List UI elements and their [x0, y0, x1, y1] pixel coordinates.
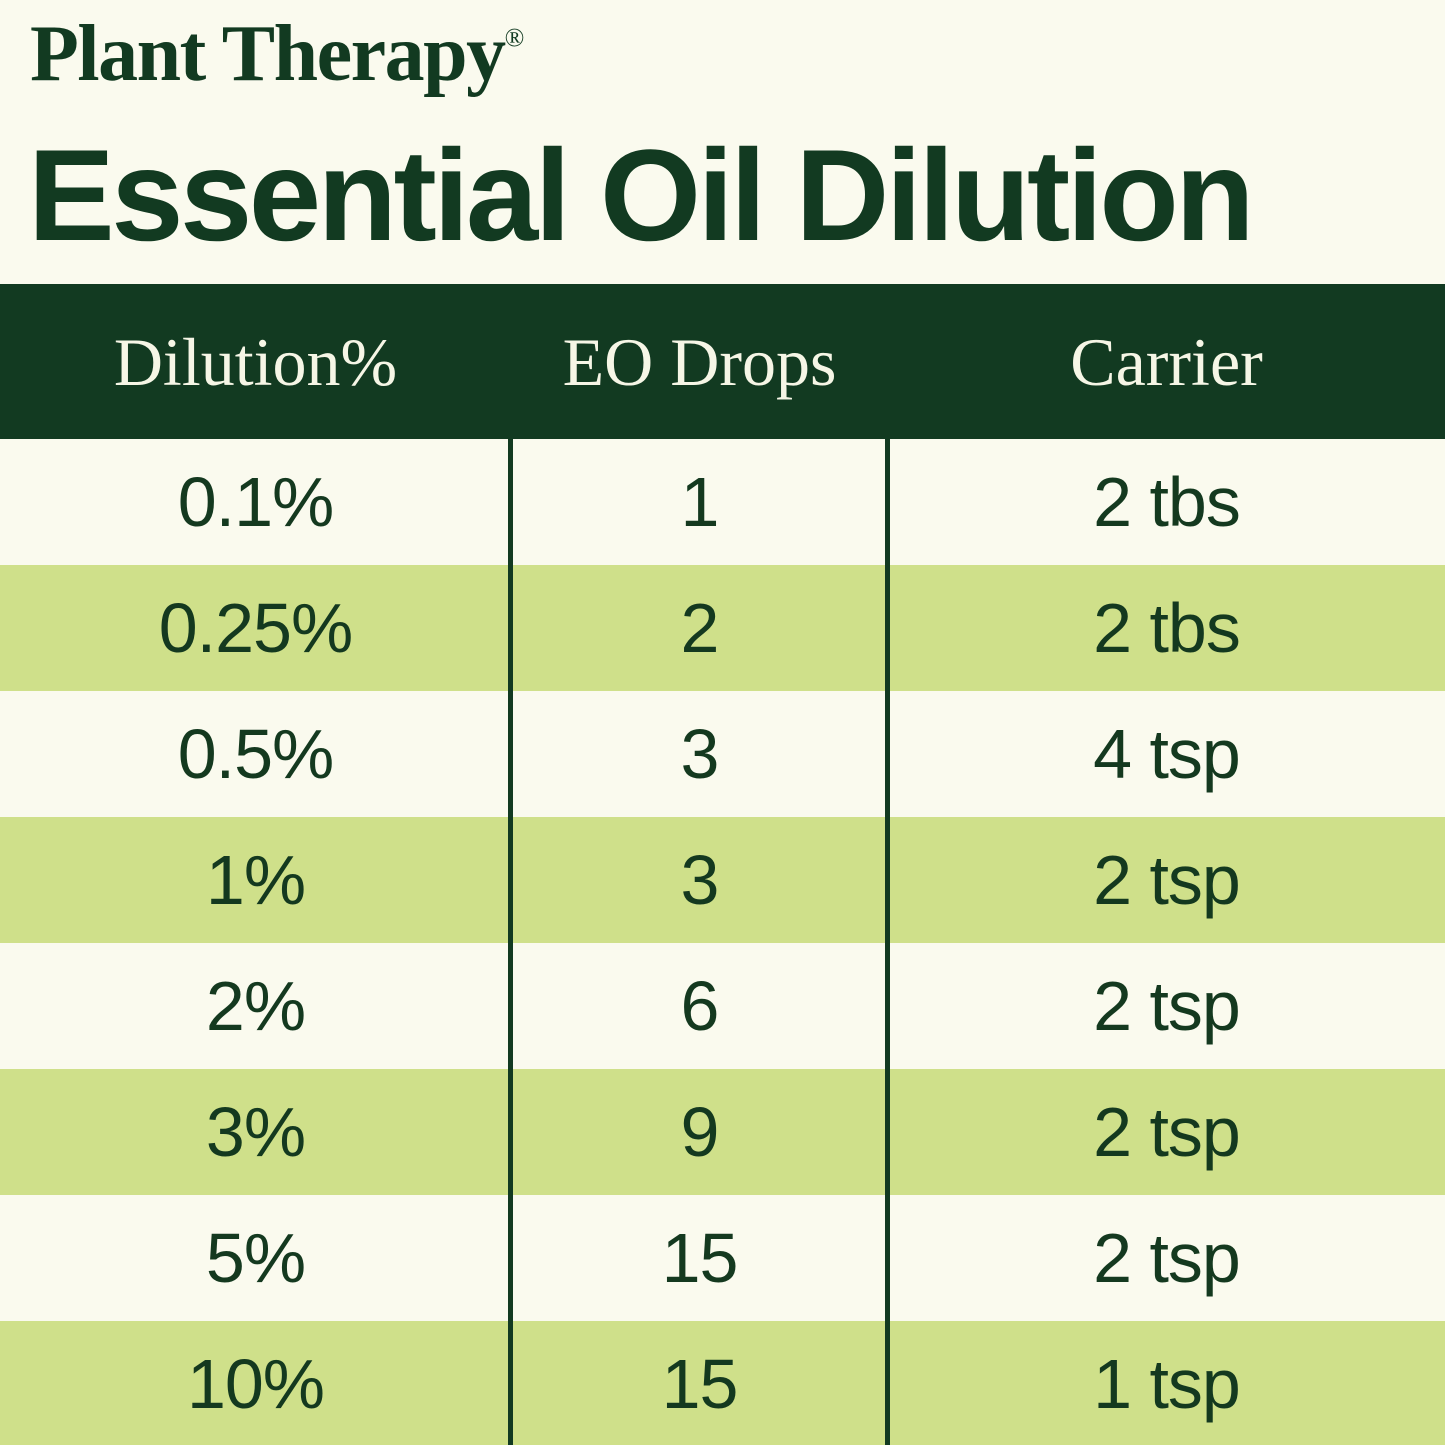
- table-row: 0.5% 3 4 tsp: [0, 691, 1445, 817]
- cell-eo-drops: 15: [511, 1223, 888, 1293]
- table-row: 10% 15 1 tsp: [0, 1321, 1445, 1445]
- cell-dilution-percent: 10%: [0, 1349, 511, 1419]
- dilution-table: Dilution% EO Drops Carrier 0.1% 1 2 tbs …: [0, 284, 1445, 1445]
- cell-eo-drops: 6: [511, 971, 888, 1041]
- cell-eo-drops: 3: [511, 845, 888, 915]
- column-header-carrier: Carrier: [888, 328, 1445, 396]
- column-header-eo-drops: EO Drops: [511, 328, 888, 396]
- brand-name: Plant Therapy: [30, 10, 505, 98]
- cell-dilution-percent: 0.5%: [0, 719, 511, 789]
- cell-eo-drops: 2: [511, 593, 888, 663]
- cell-eo-drops: 15: [511, 1349, 888, 1419]
- cell-eo-drops: 3: [511, 719, 888, 789]
- table-header-row: Dilution% EO Drops Carrier: [0, 284, 1445, 439]
- table-row: 0.1% 1 2 tbs: [0, 439, 1445, 565]
- brand-logo: Plant Therapy®: [30, 14, 524, 94]
- cell-carrier: 1 tsp: [888, 1349, 1445, 1419]
- cell-dilution-percent: 0.1%: [0, 467, 511, 537]
- column-divider-1: [508, 439, 513, 1445]
- table-row: 1% 3 2 tsp: [0, 817, 1445, 943]
- cell-dilution-percent: 0.25%: [0, 593, 511, 663]
- registered-trademark-symbol: ®: [505, 23, 525, 52]
- table-row: 5% 15 2 tsp: [0, 1195, 1445, 1321]
- table-body: 0.1% 1 2 tbs 0.25% 2 2 tbs 0.5% 3 4 tsp …: [0, 439, 1445, 1445]
- page-title: Essential Oil Dilution: [28, 130, 1251, 260]
- cell-dilution-percent: 5%: [0, 1223, 511, 1293]
- cell-carrier: 2 tsp: [888, 1223, 1445, 1293]
- cell-dilution-percent: 3%: [0, 1097, 511, 1167]
- column-header-dilution-percent: Dilution%: [0, 328, 511, 396]
- cell-carrier: 4 tsp: [888, 719, 1445, 789]
- table-row: 3% 9 2 tsp: [0, 1069, 1445, 1195]
- cell-dilution-percent: 1%: [0, 845, 511, 915]
- cell-carrier: 2 tsp: [888, 845, 1445, 915]
- cell-carrier: 2 tbs: [888, 467, 1445, 537]
- table-row: 2% 6 2 tsp: [0, 943, 1445, 1069]
- cell-carrier: 2 tbs: [888, 593, 1445, 663]
- cell-carrier: 2 tsp: [888, 971, 1445, 1041]
- cell-carrier: 2 tsp: [888, 1097, 1445, 1167]
- column-divider-2: [885, 439, 890, 1445]
- cell-dilution-percent: 2%: [0, 971, 511, 1041]
- table-row: 0.25% 2 2 tbs: [0, 565, 1445, 691]
- dilution-chart-page: Plant Therapy® Essential Oil Dilution Di…: [0, 0, 1445, 1445]
- cell-eo-drops: 9: [511, 1097, 888, 1167]
- cell-eo-drops: 1: [511, 467, 888, 537]
